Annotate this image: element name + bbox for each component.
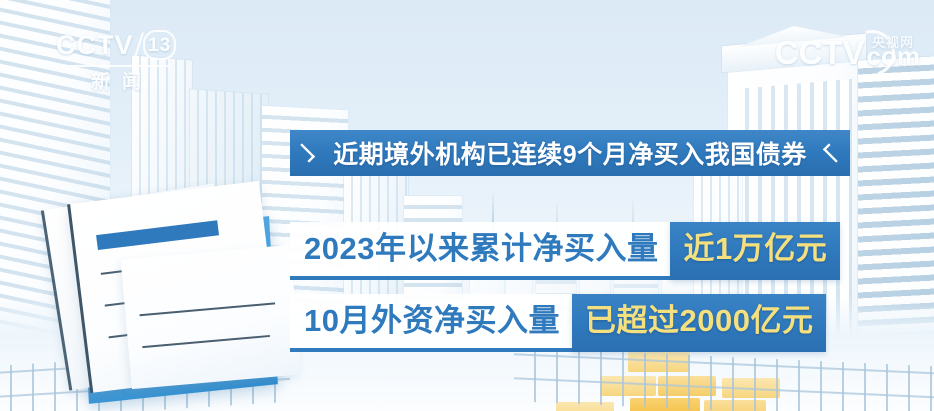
channel-name-cn: 新闻 bbox=[56, 72, 176, 94]
stat-value: 已超过2000亿元 bbox=[572, 294, 826, 352]
cctv-wordmark: CCTV bbox=[56, 32, 134, 59]
channel-number: 13 bbox=[143, 30, 176, 60]
logo-underline bbox=[62, 65, 170, 67]
broadcast-graphic: CCTV 13 新闻 CCTV com 央视网 近期境外机构已连续9个月净买入我… bbox=[0, 0, 934, 411]
headline-banner: 近期境外机构已连续9个月净买入我国债券 bbox=[290, 130, 850, 176]
headline-text: 近期境外机构已连续9个月净买入我国债券 bbox=[290, 135, 850, 171]
chevron-left-icon bbox=[827, 141, 838, 165]
stat-value: 近1万亿元 bbox=[670, 222, 840, 280]
stat-label: 2023年以来累计净买入量 bbox=[290, 222, 670, 280]
lower-third-text-block: 近期境外机构已连续9个月净买入我国债券 2023年以来累计净买入量 近1万亿元 … bbox=[290, 130, 850, 352]
stat-row: 10月外资净买入量 已超过2000亿元 bbox=[290, 294, 850, 352]
document-page-overlay bbox=[121, 245, 302, 389]
cctv-cn-label: 央视网 bbox=[872, 32, 914, 51]
cctv-com-watermark: CCTV com 央视网 bbox=[775, 36, 920, 69]
stat-label: 10月外资净买入量 bbox=[290, 294, 572, 352]
cctv13-logo-top: CCTV 13 bbox=[56, 30, 176, 60]
document-highlight-bar bbox=[96, 220, 219, 250]
chevron-right-icon bbox=[300, 141, 311, 165]
logo-slash bbox=[134, 32, 144, 57]
document-stack-icon bbox=[48, 190, 298, 405]
cctv13-logo: CCTV 13 新闻 bbox=[56, 30, 176, 94]
stat-row: 2023年以来累计净买入量 近1万亿元 bbox=[290, 222, 850, 280]
